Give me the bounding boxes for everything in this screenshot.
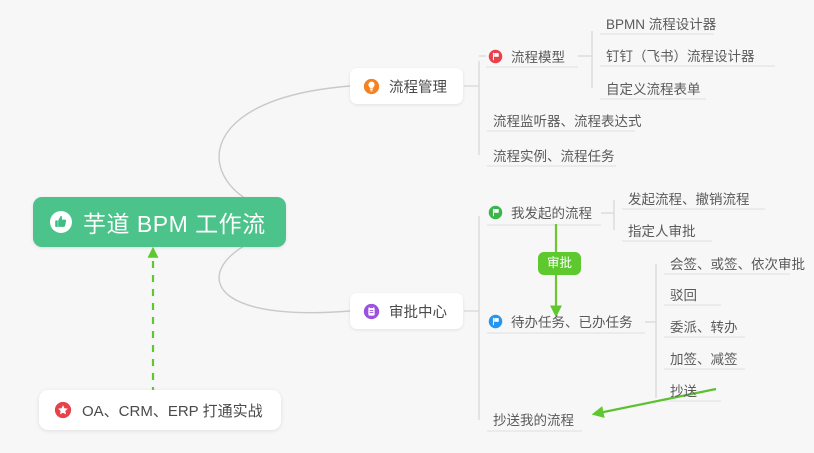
leaf-label-process-model: 流程模型	[511, 46, 565, 66]
leaf-label-cc-to-me: 抄送我的流程	[493, 409, 574, 429]
mindmap-canvas: 芋道 BPM 工作流 流程管理 审批中心	[0, 0, 814, 453]
leaf-todo-done-tasks[interactable]: 待办任务、已办任务	[486, 308, 639, 334]
flag-icon	[488, 49, 503, 64]
leaf-delegate-transfer[interactable]: 委派、转办	[664, 313, 744, 339]
leaf-dingtalk-designer[interactable]: 钉钉（飞书）流程设计器	[600, 42, 761, 68]
leaf-label-assignee-approve: 指定人审批	[628, 220, 696, 240]
flag-icon	[488, 314, 503, 329]
leaf-label-my-started-processes: 我发起的流程	[511, 202, 592, 222]
leaf-my-started-processes[interactable]: 我发起的流程	[486, 199, 598, 225]
leaf-label-bpmn-designer: BPMN 流程设计器	[606, 13, 716, 33]
root-node[interactable]: 芋道 BPM 工作流	[33, 197, 286, 247]
leaf-label-custom-form: 自定义流程表单	[606, 78, 701, 98]
leaf-start-revoke-process[interactable]: 发起流程、撤销流程	[622, 185, 756, 211]
leaf-label-add-remove-sign: 加签、减签	[670, 348, 738, 368]
leaf-custom-form[interactable]: 自定义流程表单	[600, 75, 707, 101]
leaf-reject[interactable]: 驳回	[664, 281, 703, 307]
leaf-assignee-approve[interactable]: 指定人审批	[622, 217, 702, 243]
leaf-label-todo-done-tasks: 待办任务、已办任务	[511, 311, 633, 331]
callout-label-integration: OA、CRM、ERP 打通实战	[82, 400, 263, 421]
leaf-label-process-instance: 流程实例、流程任务	[493, 145, 615, 165]
leaf-label-reject: 驳回	[670, 284, 697, 304]
callout-node-integration[interactable]: OA、CRM、ERP 打通实战	[39, 390, 281, 430]
leaf-cc-to-me[interactable]: 抄送我的流程	[487, 406, 580, 432]
leaf-process-instance[interactable]: 流程实例、流程任务	[487, 142, 621, 168]
star-icon	[54, 401, 72, 419]
clipboard-icon	[363, 303, 380, 320]
lightbulb-icon	[363, 78, 380, 95]
leaf-countersign[interactable]: 会签、或签、依次审批	[664, 250, 811, 276]
leaf-label-process-listener: 流程监听器、流程表达式	[493, 110, 642, 130]
leaf-bpmn-designer[interactable]: BPMN 流程设计器	[600, 10, 722, 36]
flag-icon	[488, 205, 503, 220]
leaf-label-cc: 抄送	[670, 380, 697, 400]
leaf-label-countersign: 会签、或签、依次审批	[670, 253, 805, 273]
leaf-label-dingtalk-designer: 钉钉（飞书）流程设计器	[606, 45, 755, 65]
leaf-label-delegate-transfer: 委派、转办	[670, 316, 738, 336]
thumbs-up-icon	[49, 210, 73, 234]
leaf-label-start-revoke-process: 发起流程、撤销流程	[628, 188, 750, 208]
branch-label-process-management: 流程管理	[389, 76, 447, 97]
leaf-process-model[interactable]: 流程模型	[486, 43, 571, 69]
branch-node-process-management[interactable]: 流程管理	[350, 68, 463, 104]
annotation-badge-approve: 审批	[538, 252, 581, 275]
leaf-add-remove-sign[interactable]: 加签、减签	[664, 345, 744, 371]
branch-label-approval-center: 审批中心	[389, 301, 447, 322]
leaf-cc[interactable]: 抄送	[664, 377, 703, 403]
root-label: 芋道 BPM 工作流	[83, 205, 266, 239]
branch-node-approval-center[interactable]: 审批中心	[350, 293, 463, 329]
leaf-process-listener[interactable]: 流程监听器、流程表达式	[487, 107, 648, 133]
link-root-to-process-management	[219, 86, 350, 212]
